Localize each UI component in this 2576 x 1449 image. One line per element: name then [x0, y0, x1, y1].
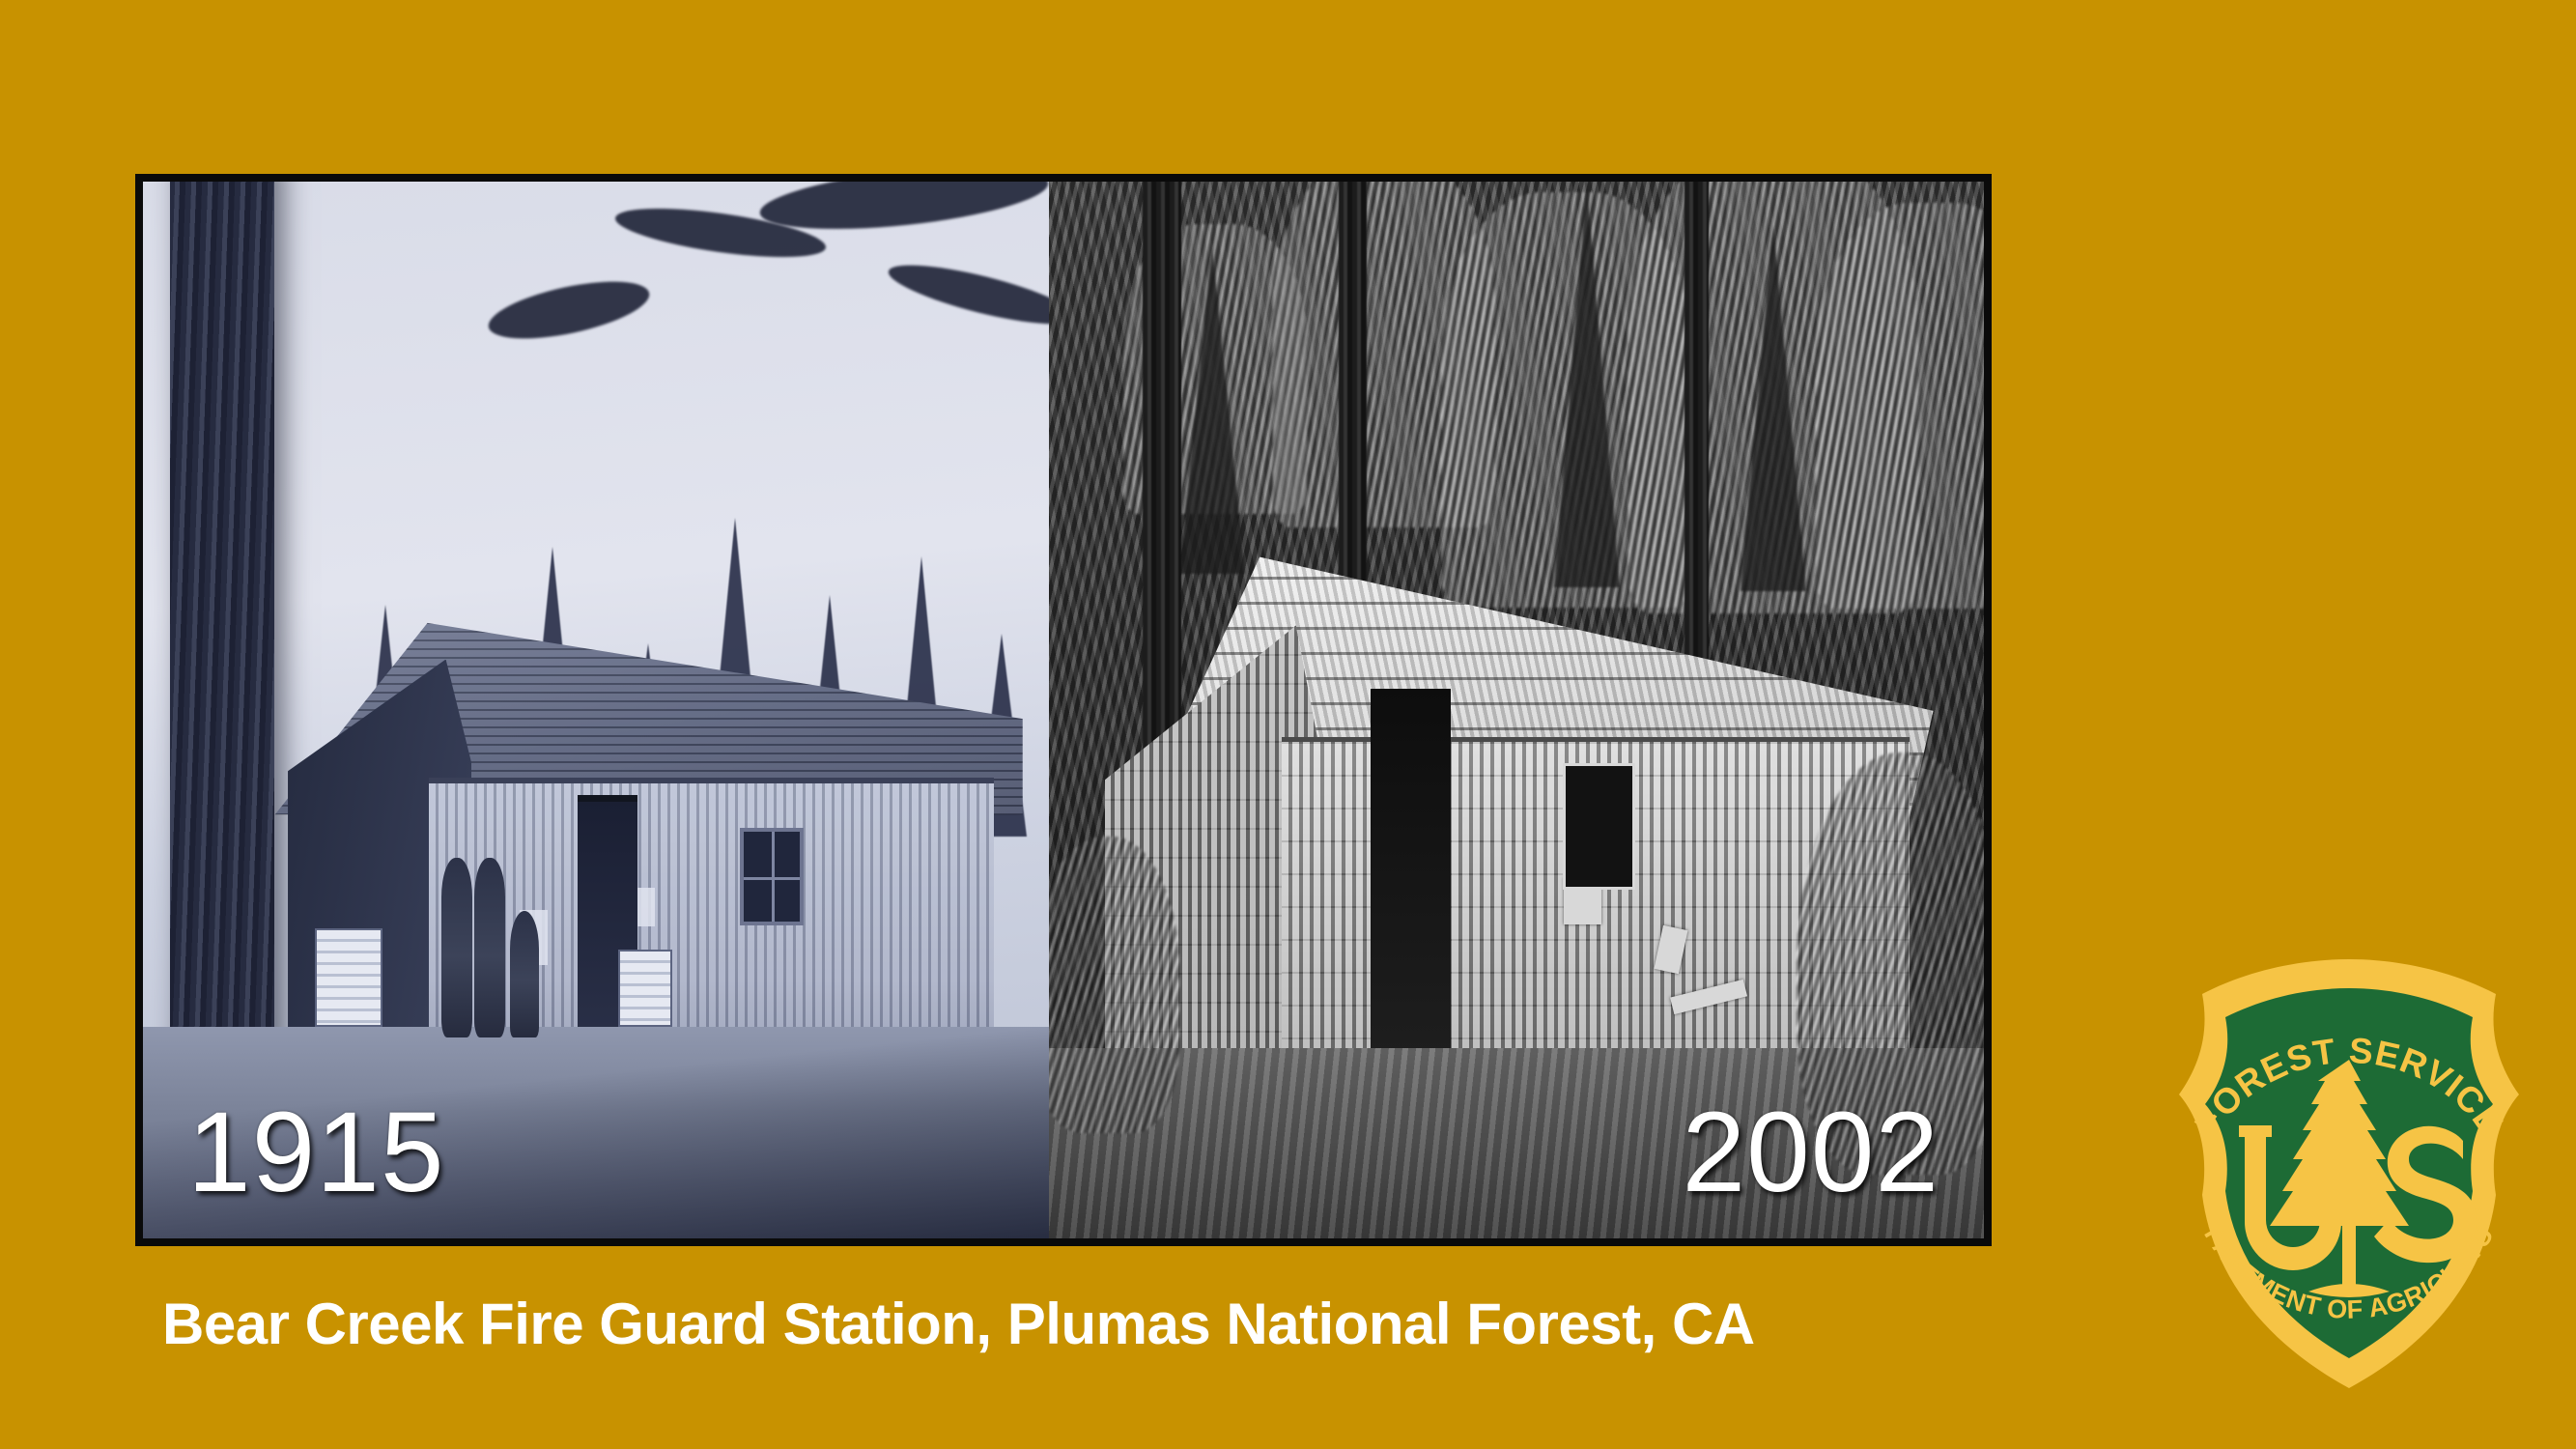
before-after-photo-pair: 1915 — [135, 174, 1992, 1246]
fir-silhouette — [1554, 182, 1620, 587]
supply-stack — [618, 950, 672, 1028]
year-label-2002: 2002 — [1682, 1095, 1939, 1209]
fir-silhouette — [1741, 224, 1806, 591]
person-figure — [441, 858, 472, 1037]
cabin-doorway — [1371, 689, 1451, 1080]
person-figure — [474, 858, 505, 1037]
cabin-broken-window — [1563, 763, 1635, 890]
fir-silhouette — [1179, 245, 1245, 574]
cabin-window — [740, 828, 804, 925]
leaning-board — [1670, 980, 1747, 1014]
leaning-board — [1654, 925, 1687, 974]
fir-foliage — [1816, 203, 1984, 609]
poster-background: 1915 — [0, 0, 2576, 1449]
poster-caption: Bear Creek Fire Guard Station, Plumas Na… — [162, 1291, 1755, 1357]
supply-stack — [315, 928, 382, 1027]
cabin-modern — [1105, 552, 1910, 1080]
photo-historic-1915: 1915 — [143, 182, 1049, 1238]
brush — [1049, 837, 1180, 1132]
photo-modern-2002: 2002 — [1049, 182, 1984, 1238]
usfs-shield-logo: FOREST SERVICE DEPARTMENT OF AGRICULTURE — [2156, 952, 2542, 1396]
year-label-1915: 1915 — [187, 1095, 445, 1209]
person-figure — [510, 911, 539, 1037]
